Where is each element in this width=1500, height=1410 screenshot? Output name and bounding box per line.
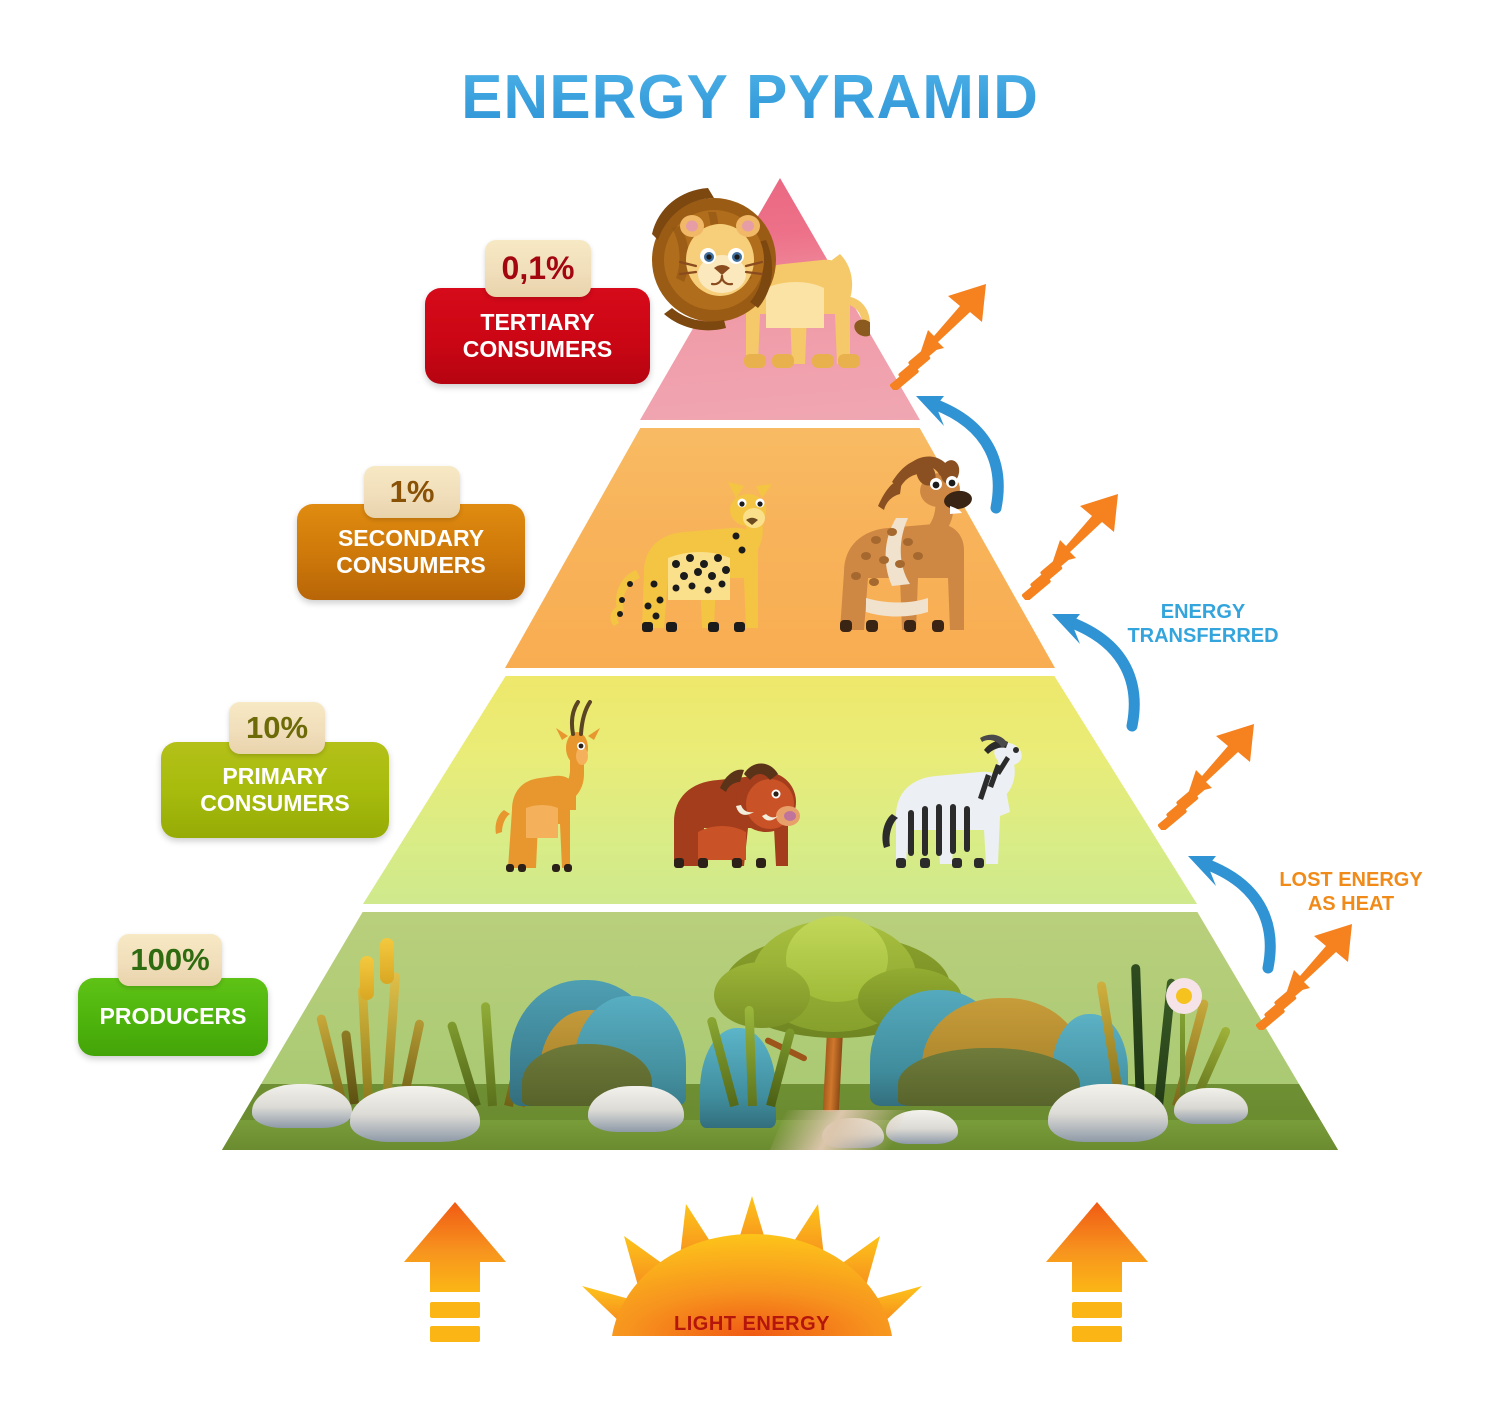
flower-daisy bbox=[1160, 968, 1206, 1098]
sun-icon: LIGHT ENERGY bbox=[566, 1196, 938, 1346]
label-primary-consumers[interactable]: PRIMARY CONSUMERS bbox=[161, 742, 389, 838]
label-tertiary-line1: TERTIARY bbox=[463, 309, 613, 336]
warthog-illustration bbox=[648, 740, 808, 890]
heat-arrow-icon bbox=[890, 278, 996, 390]
label-tertiary-line2: CONSUMERS bbox=[463, 336, 613, 363]
annotation-lost-line2: AS HEAT bbox=[1256, 892, 1446, 916]
label-secondary-line2: CONSUMERS bbox=[336, 552, 486, 579]
rock bbox=[350, 1086, 480, 1142]
percentage-chip-primary: 10% bbox=[229, 702, 325, 754]
label-primary-line1: PRIMARY bbox=[200, 763, 350, 790]
light-energy-arrow-icon bbox=[400, 1200, 510, 1348]
rock bbox=[1048, 1084, 1168, 1142]
percentage-chip-producers: 100% bbox=[118, 934, 222, 986]
lion-illustration bbox=[650, 168, 870, 390]
grass-clump-center bbox=[722, 1002, 792, 1106]
rock bbox=[588, 1086, 684, 1132]
cattail-group-left bbox=[330, 944, 420, 1104]
percentage-chip-secondary: 1% bbox=[364, 466, 460, 518]
light-energy-arrow-icon bbox=[1042, 1200, 1152, 1348]
label-secondary-line1: SECONDARY bbox=[336, 525, 486, 552]
annotation-transferred-line2: TRANSFERRED bbox=[1108, 624, 1298, 648]
rock bbox=[1174, 1088, 1248, 1124]
energy-transfer-arrow-icon bbox=[900, 382, 1010, 514]
rock bbox=[252, 1084, 352, 1128]
percentage-chip-tertiary: 0,1% bbox=[485, 240, 591, 297]
light-energy-label: LIGHT ENERGY bbox=[566, 1313, 938, 1336]
antelope-illustration bbox=[478, 700, 608, 890]
label-producers[interactable]: PRODUCERS bbox=[78, 978, 268, 1056]
sand-path bbox=[770, 1110, 906, 1150]
pyramid-tier-producers[interactable] bbox=[222, 912, 1338, 1150]
heat-arrow-icon bbox=[1158, 718, 1264, 830]
label-tertiary-consumers[interactable]: TERTIARY CONSUMERS bbox=[425, 288, 650, 384]
label-secondary-consumers[interactable]: SECONDARY CONSUMERS bbox=[297, 504, 525, 600]
annotation-lost-line1: LOST ENERGY bbox=[1256, 868, 1446, 892]
heat-arrow-icon bbox=[1022, 488, 1128, 600]
zebra-illustration bbox=[862, 718, 1042, 890]
label-producers-line1: PRODUCERS bbox=[100, 1003, 247, 1030]
annotation-transferred-line1: ENERGY bbox=[1108, 600, 1298, 624]
label-primary-line2: CONSUMERS bbox=[200, 790, 350, 817]
annotation-energy-transferred: ENERGY TRANSFERRED bbox=[1108, 600, 1298, 648]
cheetah-illustration bbox=[590, 458, 790, 658]
annotation-lost-energy-as-heat: LOST ENERGY AS HEAT bbox=[1256, 868, 1446, 916]
